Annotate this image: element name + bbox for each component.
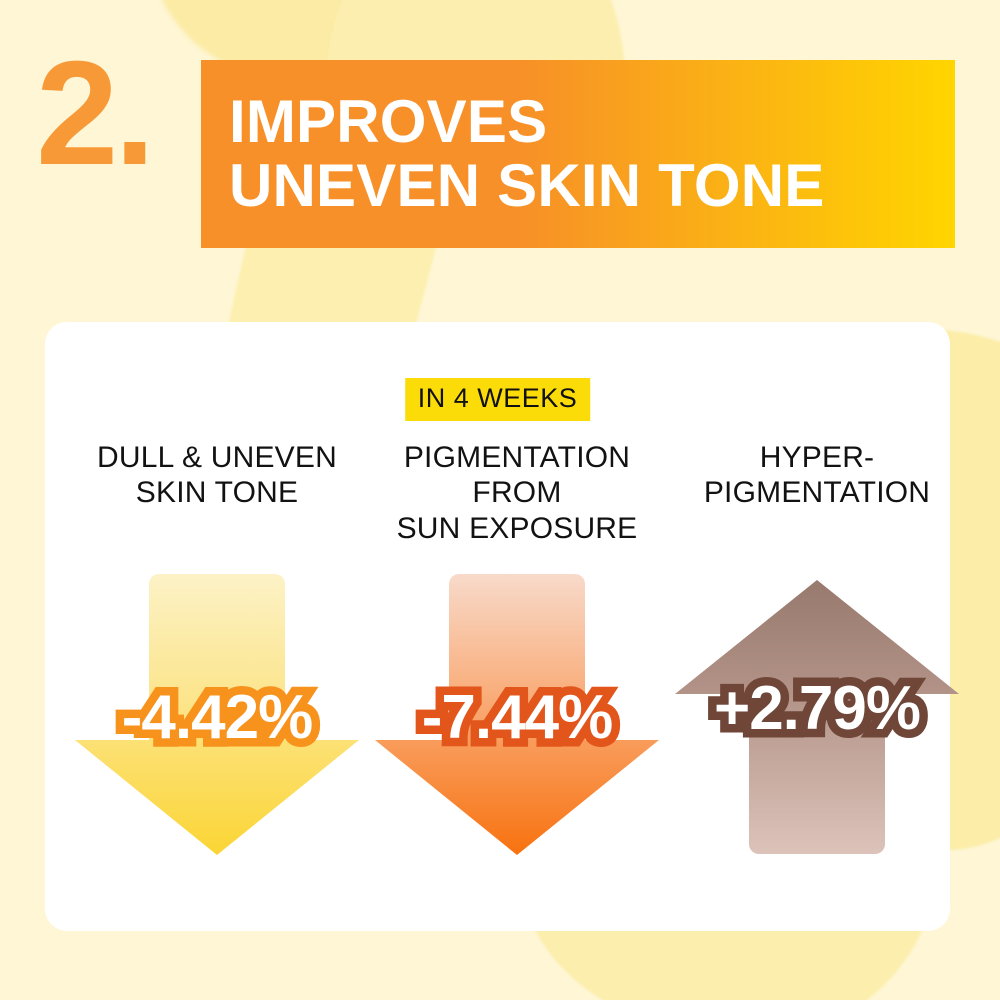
column-title: PIGMENTATION FROM SUN EXPOSURE: [397, 440, 638, 566]
status-badge: IN 4 WEEKS: [405, 378, 591, 421]
result-column: PIGMENTATION FROM SUN EXPOSURE -7.44%: [367, 440, 667, 872]
value-label: -7.44%: [422, 687, 612, 749]
value-label: -4.42%: [122, 687, 312, 749]
infographic-slide: 2. IMPROVES UNEVEN SKIN TONE IN 4 WEEKS …: [0, 0, 1000, 1000]
column-title: DULL & UNEVEN SKIN TONE: [97, 440, 337, 566]
arrow-down-icon-group: -4.42%: [67, 572, 367, 872]
results-card: IN 4 WEEKS DULL & UNEVEN SKIN TONE: [45, 322, 950, 931]
arrow-down-icon-group: -7.44%: [367, 572, 667, 872]
column-title: HYPER- PIGMENTATION: [704, 440, 930, 566]
page-title: IMPROVES UNEVEN SKIN TONE: [229, 90, 825, 217]
header-banner: IMPROVES UNEVEN SKIN TONE: [201, 60, 955, 248]
result-column: HYPER- PIGMENTATION +2.79%: [667, 440, 967, 872]
value-label: +2.79%: [714, 678, 920, 740]
arrow-up-icon-group: +2.79%: [667, 572, 967, 872]
step-number: 2.: [36, 40, 151, 188]
results-columns: DULL & UNEVEN SKIN TONE -4.42%: [45, 440, 950, 872]
result-column: DULL & UNEVEN SKIN TONE -4.42%: [67, 440, 367, 872]
